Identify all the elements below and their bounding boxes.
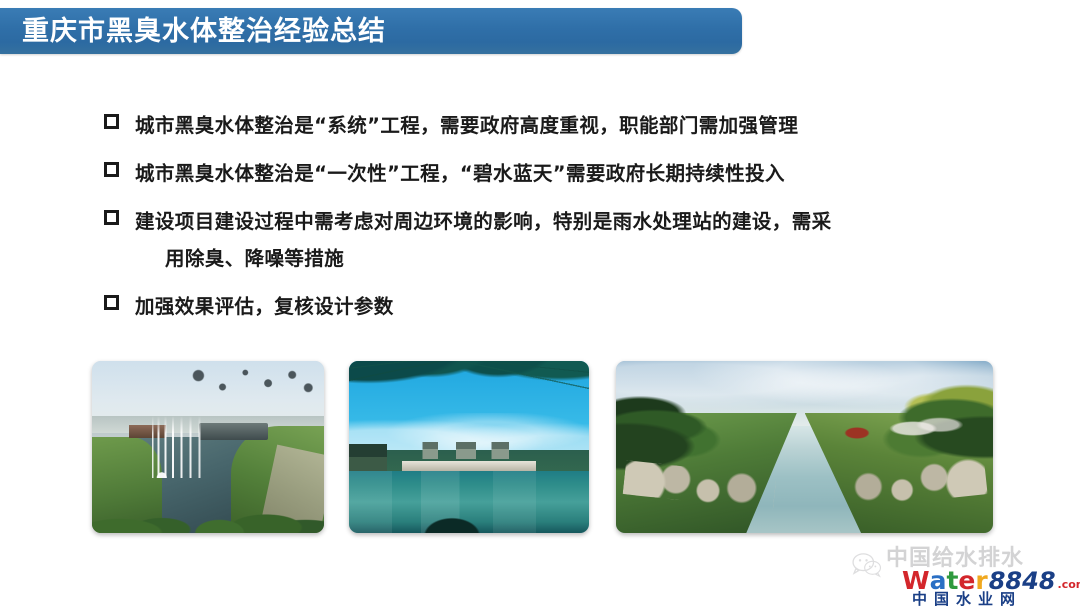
hollow-square-icon bbox=[104, 162, 119, 177]
list-item: 城市黑臭水体整治是“一次性”工程，“碧水蓝天”需要政府长期持续性投入 bbox=[104, 155, 1024, 192]
blossom-cluster bbox=[880, 413, 963, 444]
bullet-line: 城市黑臭水体整治是“一次性”工程，“碧水蓝天”需要政府长期持续性投入 bbox=[135, 155, 1024, 192]
photo-aerial-fountain-park-canvas bbox=[92, 361, 324, 533]
bullet-list: 城市黑臭水体整治是“系统”工程，需要政府高度重视，职能部门需加强管理 城市黑臭水… bbox=[104, 107, 1024, 336]
page-title: 重庆市黑臭水体整治经验总结 bbox=[22, 18, 386, 45]
slide-root: 重庆市黑臭水体整治经验总结 城市黑臭水体整治是“系统”工程，需要政府高度重视，职… bbox=[0, 0, 1080, 608]
wechat-icon bbox=[852, 552, 882, 578]
photo-restored-canal bbox=[616, 361, 993, 533]
bullet-line-continuation: 用除臭、降噪等措施 bbox=[135, 240, 1024, 277]
hollow-square-icon bbox=[104, 114, 119, 129]
tree-row bbox=[92, 464, 324, 533]
foreground-shadow bbox=[421, 516, 483, 533]
willow-strands bbox=[349, 361, 589, 444]
photo-lake-with-willow-canvas bbox=[349, 361, 589, 533]
trees-left bbox=[616, 389, 789, 472]
red-foliage bbox=[842, 426, 872, 440]
shore-buildings bbox=[402, 461, 536, 471]
hollow-square-icon bbox=[104, 295, 119, 310]
bullet-line: 城市黑臭水体整治是“系统”工程，需要政府高度重视，职能部门需加强管理 bbox=[135, 107, 1024, 144]
hollow-square-icon bbox=[104, 210, 119, 225]
bullet-line: 加强效果评估，复核设计参数 bbox=[135, 288, 1024, 325]
photo-lake-with-willow bbox=[349, 361, 589, 533]
watermark: 中国给水排水 W a t e r 8848 .com 中国水业网 bbox=[850, 542, 1074, 606]
birds-layer bbox=[185, 368, 320, 406]
pavilion-roofs bbox=[416, 442, 526, 459]
photo-strip bbox=[92, 361, 1012, 533]
list-item: 城市黑臭水体整治是“系统”工程，需要政府高度重视，职能部门需加强管理 bbox=[104, 107, 1024, 144]
photo-restored-canal-canvas bbox=[616, 361, 993, 533]
bullet-body: 城市黑臭水体整治是“系统”工程，需要政府高度重视，职能部门需加强管理 bbox=[135, 107, 1024, 144]
bullet-body: 城市黑臭水体整治是“一次性”工程，“碧水蓝天”需要政府长期持续性投入 bbox=[135, 155, 1024, 192]
watermark-subtitle: 中国水业网 bbox=[912, 592, 1022, 607]
list-item: 加强效果评估，复核设计参数 bbox=[104, 288, 1024, 325]
bullet-body: 加强效果评估，复核设计参数 bbox=[135, 288, 1024, 325]
logo-tld: .com bbox=[1058, 579, 1080, 590]
list-item: 建设项目建设过程中需考虑对周边环境的影响，特别是雨水处理站的建设，需采 用除臭、… bbox=[104, 203, 1024, 277]
photo-aerial-fountain-park bbox=[92, 361, 324, 533]
slide-title-bar: 重庆市黑臭水体整治经验总结 bbox=[0, 8, 742, 54]
bullet-body: 建设项目建设过程中需考虑对周边环境的影响，特别是雨水处理站的建设，需采 用除臭、… bbox=[135, 203, 1024, 277]
bullet-line: 建设项目建设过程中需考虑对周边环境的影响，特别是雨水处理站的建设，需采 bbox=[135, 203, 1024, 240]
